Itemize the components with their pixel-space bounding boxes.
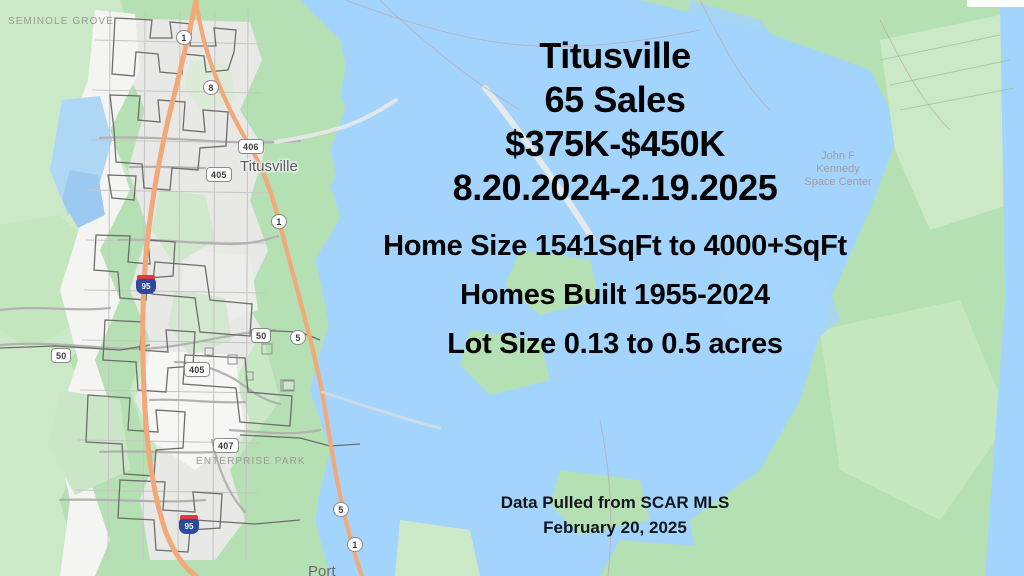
road-shield-i-95-south[interactable]: 95 (179, 515, 199, 534)
road-shield-us-1-north[interactable]: 1 (176, 30, 192, 45)
road-shield-us-1-mid[interactable]: 1 (271, 214, 287, 229)
stats-overlay: Titusville 65 Sales $375K-$450K 8.20.202… (340, 34, 890, 369)
corner-notch (967, 0, 1024, 7)
overlay-line-homes-built: Homes Built 1955-2024 (340, 271, 890, 320)
footer-line-source: Data Pulled from SCAR MLS (340, 490, 890, 515)
overlay-line-sales: 65 Sales (340, 78, 890, 122)
overlay-line-city: Titusville (340, 34, 890, 78)
overlay-line-lot-size: Lot Size 0.13 to 0.5 acres (340, 320, 890, 369)
road-shield-sr-50-east[interactable]: 50 (251, 328, 271, 343)
overlay-line-home-size: Home Size 1541SqFt to 4000+SqFt (340, 222, 890, 271)
map-infographic: SEMINOLE GROVE Titusville John F Kennedy… (0, 0, 1024, 576)
road-shield-sr-405-south[interactable]: 405 (184, 362, 210, 377)
overlay-line-date-range: 8.20.2024-2.19.2025 (340, 166, 890, 210)
overlay-spacer (340, 210, 890, 222)
road-shield-i-95-north[interactable]: 95 (136, 275, 156, 294)
road-shield-sr-8[interactable]: 8 (203, 80, 219, 95)
interstate-number: 95 (136, 279, 156, 294)
overlay-line-price-range: $375K-$450K (340, 122, 890, 166)
road-shield-sr-407[interactable]: 407 (213, 438, 239, 453)
road-shield-sr-405-north[interactable]: 405 (206, 167, 232, 182)
road-shield-sr-50-west[interactable]: 50 (51, 348, 71, 363)
road-shield-sr-5-east[interactable]: 5 (290, 330, 306, 345)
road-shield-sr-406[interactable]: 406 (238, 139, 264, 154)
interstate-number: 95 (179, 519, 199, 534)
footer-line-date: February 20, 2025 (340, 515, 890, 540)
data-source-footer: Data Pulled from SCAR MLS February 20, 2… (340, 490, 890, 540)
